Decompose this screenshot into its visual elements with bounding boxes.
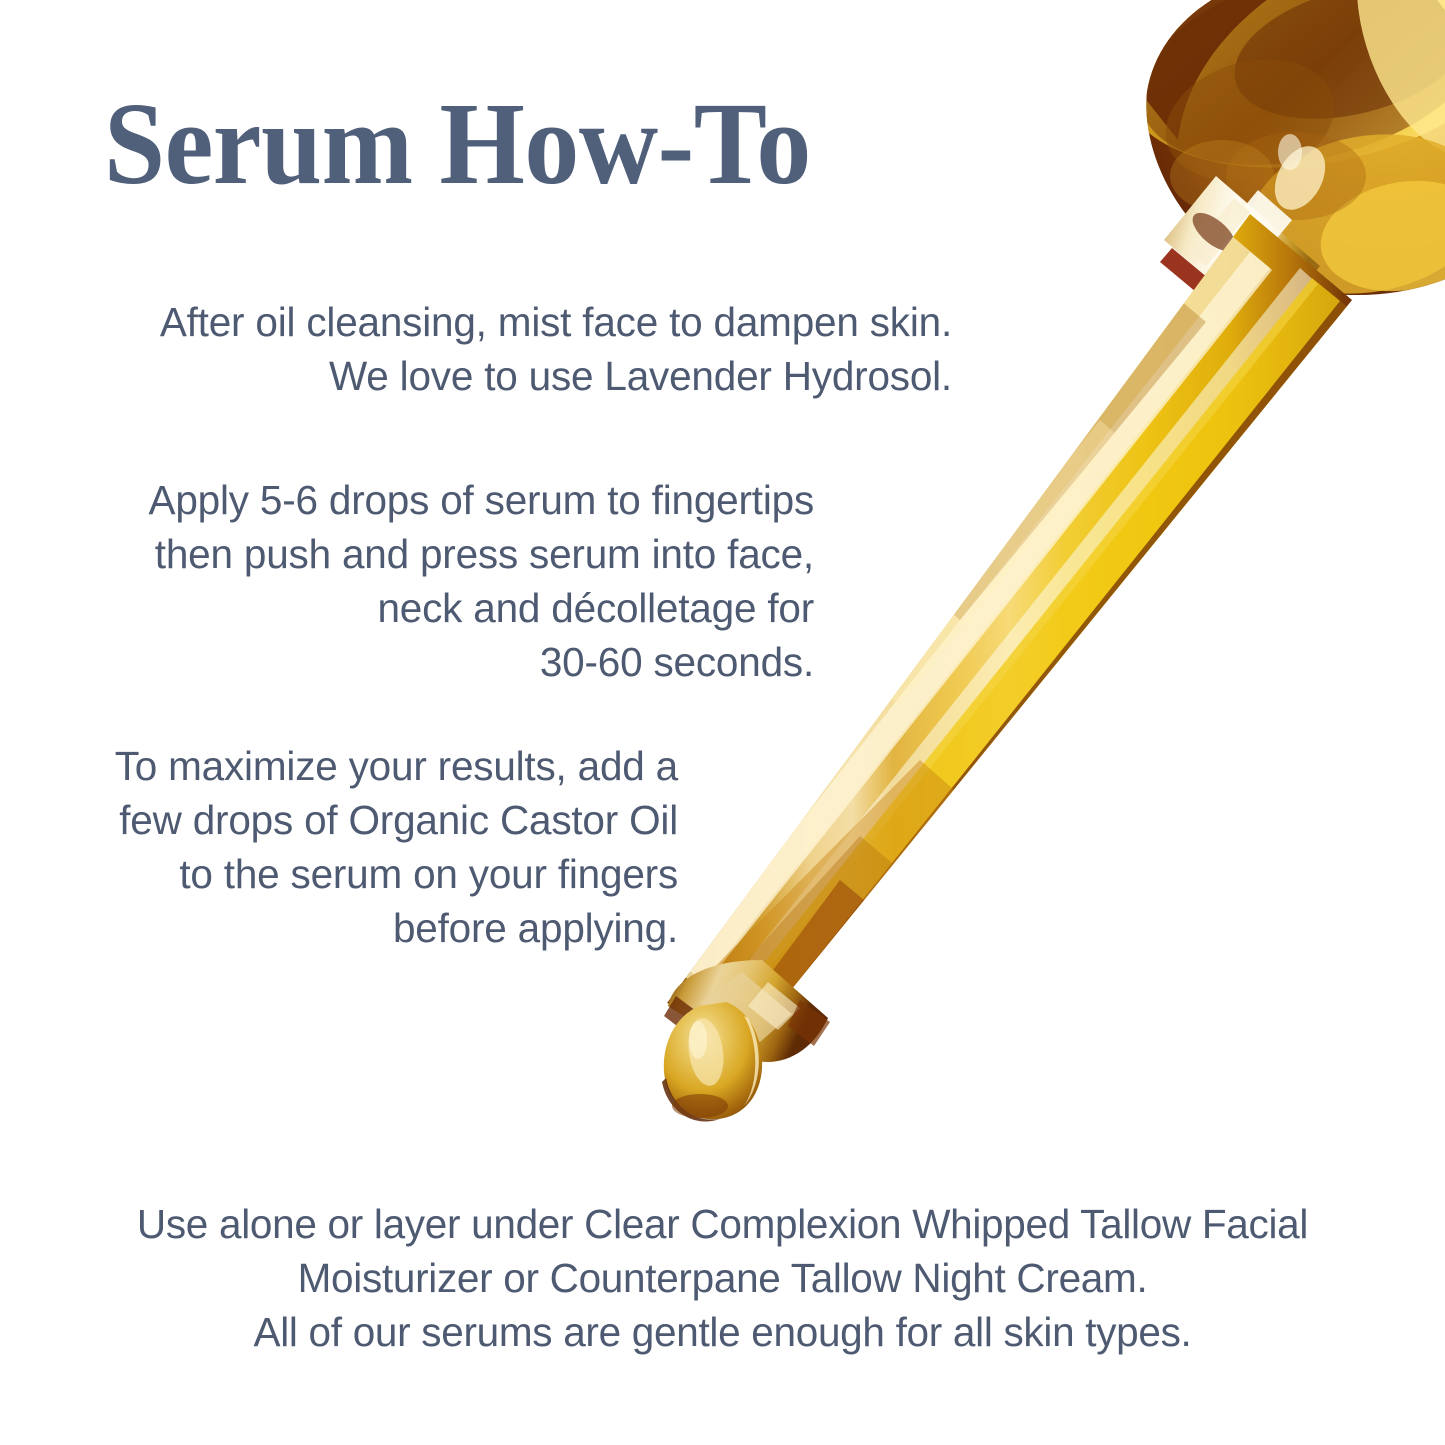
dropper-bulb-cap: [1092, 0, 1445, 312]
instruction-step-mist: After oil cleansing, mist face to dampen…: [0, 296, 952, 404]
page-title: Serum How-To: [104, 84, 941, 204]
instruction-step-apply: Apply 5-6 drops of serum to fingertips t…: [0, 474, 814, 689]
serum-droplet: [662, 1002, 762, 1121]
glass-collar: [1160, 176, 1320, 374]
pipette-tip: [664, 960, 830, 1062]
instruction-step-maximize: To maximize your results, add a few drop…: [0, 740, 678, 955]
layering-note: Use alone or layer under Clear Complexio…: [0, 1198, 1445, 1360]
poster-canvas: Serum How-To After oil cleansing, mist f…: [0, 0, 1445, 1445]
